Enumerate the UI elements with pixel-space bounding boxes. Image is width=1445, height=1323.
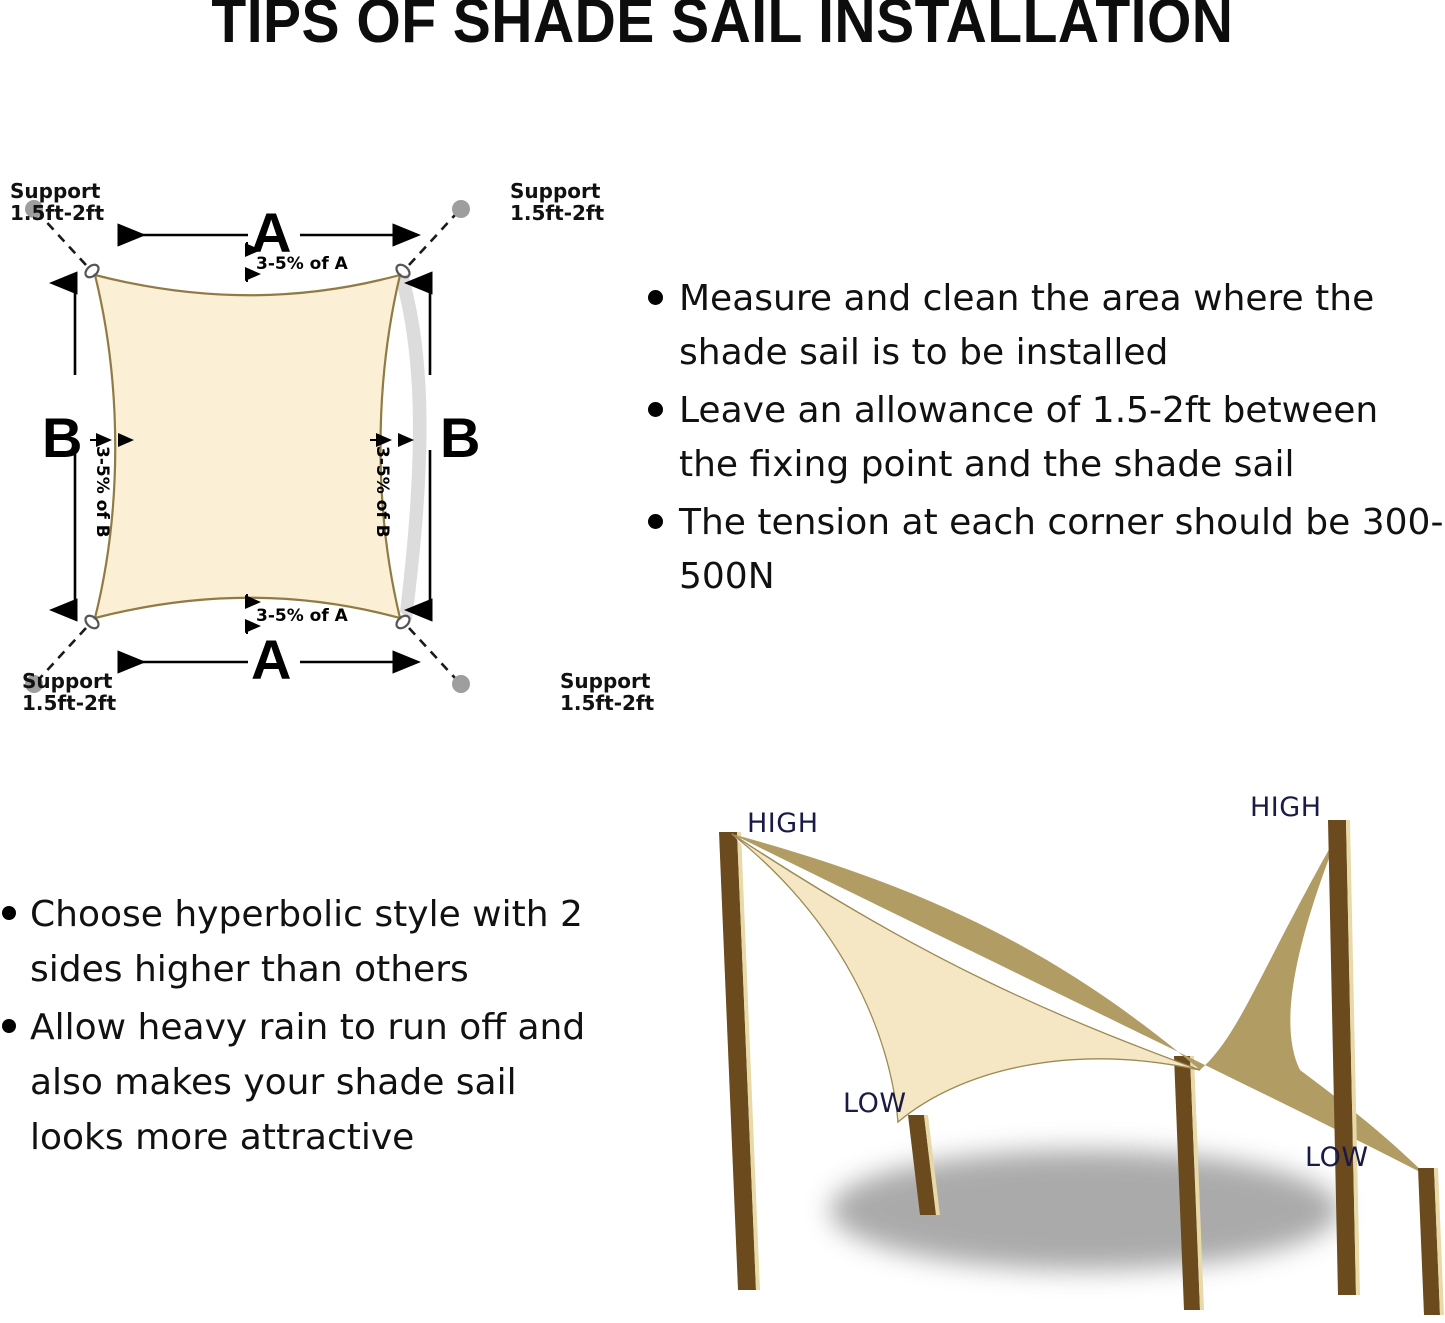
bullet-list: Measure and clean the area where the sha…	[648, 272, 1445, 604]
bullet-dot-icon	[648, 402, 663, 417]
support-label-line1: Support	[510, 180, 604, 202]
list-item: Allow heavy rain to run off and also mak…	[2, 1001, 617, 1165]
bullet-dot-icon	[648, 290, 663, 305]
support-label-line2: 1.5ft-2ft	[10, 202, 104, 224]
sail-dark	[732, 830, 1426, 1175]
dimension-letter-bottom-A: A	[251, 632, 291, 688]
bullet-text: Measure and clean the area where the sha…	[679, 272, 1445, 380]
hyperbolic-sail-svg	[640, 770, 1445, 1319]
support-label-line1: Support	[10, 180, 104, 202]
label-low-left: LOW	[843, 1088, 907, 1119]
bullet-text: Leave an allowance of 1.5-2ft between th…	[679, 384, 1445, 492]
support-label-top-right: Support 1.5ft-2ft	[510, 180, 604, 225]
sail-edge-shadow	[395, 274, 427, 620]
rect-sail-svg	[0, 150, 660, 730]
label-high-left: HIGH	[747, 808, 819, 839]
label-low-right: LOW	[1305, 1142, 1369, 1173]
dimension-letter-top-A: A	[251, 205, 291, 261]
support-label-line1: Support	[560, 670, 654, 692]
sail-light-surface	[732, 834, 1200, 1122]
sag-label-left: 3-5% of B	[92, 446, 112, 538]
support-label-bottom-left: Support 1.5ft-2ft	[22, 670, 116, 715]
list-item: The tension at each corner should be 300…	[648, 496, 1445, 604]
sail-body	[95, 275, 400, 618]
bullet-list: Choose hyperbolic style with 2 sides hig…	[2, 888, 617, 1166]
sag-label-bottom: 3-5% of A	[256, 606, 348, 626]
support-label-line1: Support	[22, 670, 116, 692]
tips-list-right: Measure and clean the area where the sha…	[648, 272, 1445, 608]
list-item: Measure and clean the area where the sha…	[648, 272, 1445, 380]
bullet-dot-icon	[2, 906, 16, 920]
bullet-text: The tension at each corner should be 300…	[679, 496, 1445, 604]
ground-shadow	[830, 1150, 1340, 1270]
bullet-text: Allow heavy rain to run off and also mak…	[30, 1001, 617, 1165]
bullet-dot-icon	[648, 514, 663, 529]
label-high-right: HIGH	[1250, 792, 1322, 823]
support-label-top-left: Support 1.5ft-2ft	[10, 180, 104, 225]
support-label-line2: 1.5ft-2ft	[510, 202, 604, 224]
dimension-letter-left-B: B	[42, 410, 82, 466]
sag-label-right: 3-5% of B	[372, 446, 392, 538]
list-item: Leave an allowance of 1.5-2ft between th…	[648, 384, 1445, 492]
bullet-text: Choose hyperbolic style with 2 sides hig…	[30, 888, 617, 997]
bullet-dot-icon	[2, 1019, 16, 1033]
list-item: Choose hyperbolic style with 2 sides hig…	[2, 888, 617, 997]
tips-list-bottom-left: Choose hyperbolic style with 2 sides hig…	[2, 888, 617, 1170]
posts-front	[1328, 820, 1444, 1315]
support-label-line2: 1.5ft-2ft	[22, 692, 116, 714]
rectangular-sail-diagram: Support 1.5ft-2ft Support 1.5ft-2ft Supp…	[0, 150, 660, 730]
page-title: TIPS OF SHADE SAIL INSTALLATION	[211, 0, 1233, 57]
dimension-letter-right-B: B	[440, 410, 480, 466]
title-bar: TIPS OF SHADE SAIL INSTALLATION	[0, 0, 1445, 56]
sag-label-top: 3-5% of A	[256, 254, 348, 274]
support-label-bottom-right: Support 1.5ft-2ft	[560, 670, 654, 715]
support-label-line2: 1.5ft-2ft	[560, 692, 654, 714]
hyperbolic-sail-illustration: HIGH HIGH LOW LOW	[640, 770, 1445, 1319]
